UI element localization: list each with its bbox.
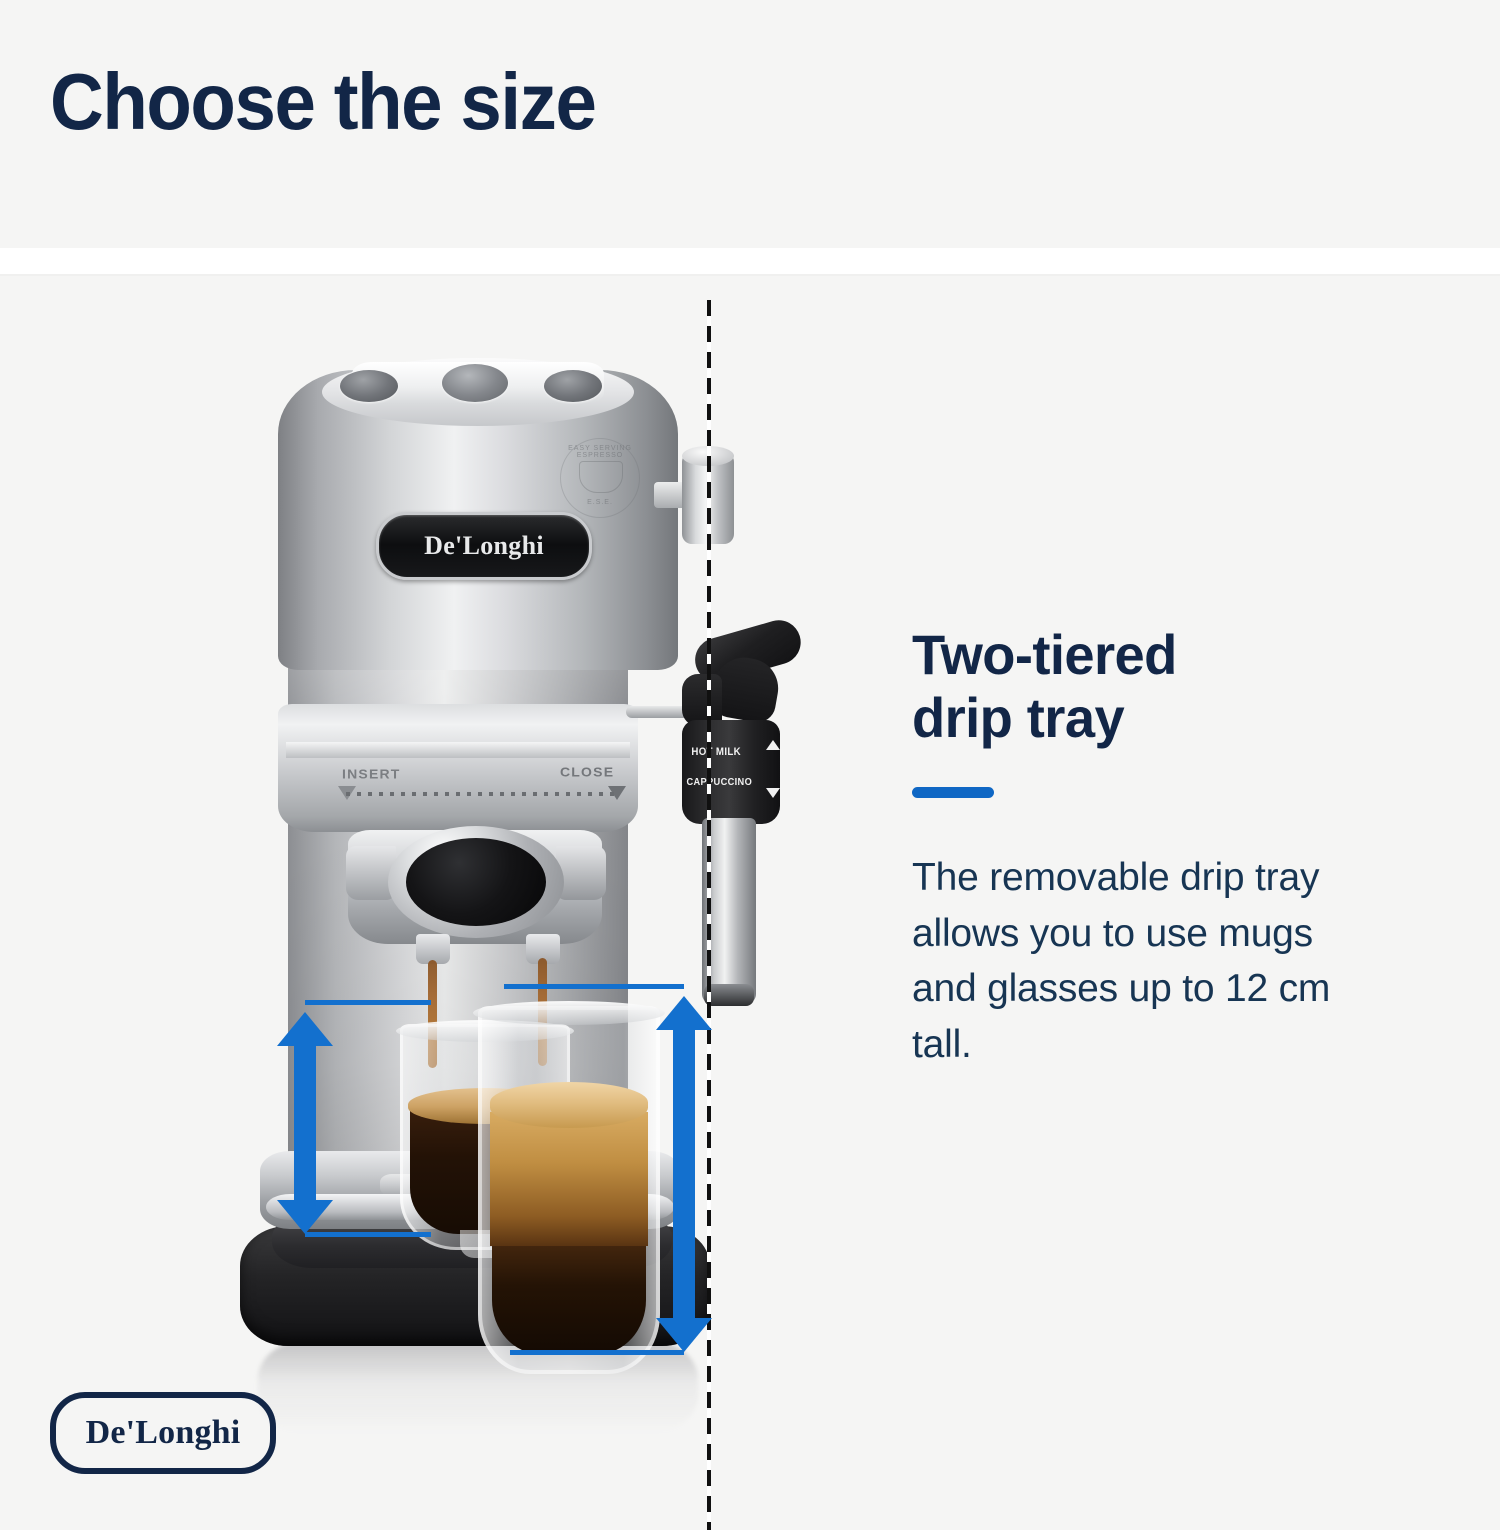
power-button[interactable] xyxy=(340,370,398,402)
short-arrow-shaft xyxy=(294,1046,316,1200)
tall-extension-line-bottom xyxy=(510,1350,684,1355)
feature-heading-line-1: Two-tiered xyxy=(912,624,1407,687)
delonghi-logo-text: De'Longhi xyxy=(86,1414,241,1452)
steam-button[interactable] xyxy=(544,370,602,402)
group-head-band xyxy=(286,742,630,758)
product-stage: De'Longhi EASY SERVING ESPRESSO E.S.E. I… xyxy=(0,276,1500,1500)
marking-close: CLOSE xyxy=(560,765,614,779)
tall-extension-line-top xyxy=(504,984,684,989)
feature-heading: Two-tiered drip tray xyxy=(912,624,1407,749)
short-arrow-head-down xyxy=(277,1200,333,1234)
wand-label-cappuccino: CAPPUCCINO xyxy=(686,776,752,788)
ese-logo-top-text: EASY SERVING ESPRESSO xyxy=(561,445,639,459)
tall-arrow-head-up xyxy=(656,996,712,1030)
feature-accent-rule xyxy=(912,787,994,798)
feature-description: The removable drip tray allows you to us… xyxy=(912,850,1382,1072)
marking-insert: INSERT xyxy=(342,767,401,781)
tall-glass-coffee xyxy=(492,1236,646,1354)
steam-wand-selector[interactable] xyxy=(682,720,780,824)
short-extension-line-bottom xyxy=(305,1232,431,1237)
espresso-glass-tall xyxy=(478,1006,660,1374)
ese-logo-icon: EASY SERVING ESPRESSO E.S.E. xyxy=(560,438,640,518)
feature-text-column: Two-tiered drip tray The removable drip … xyxy=(912,624,1422,1072)
espresso-machine-image: De'Longhi EASY SERVING ESPRESSO E.S.E. I… xyxy=(230,306,750,1406)
portafilter-basket xyxy=(406,838,546,926)
ese-logo-glyph xyxy=(579,461,623,493)
wand-down-arrow-icon xyxy=(766,788,780,798)
tall-arrow-head-down xyxy=(656,1318,712,1352)
portafilter-ear-right xyxy=(556,846,606,900)
brew-button[interactable] xyxy=(442,364,508,402)
brand-nameplate: De'Longhi xyxy=(376,512,592,580)
ese-logo-bottom-text: E.S.E. xyxy=(561,499,639,506)
page-title: Choose the size xyxy=(50,62,595,142)
short-extension-line-top xyxy=(305,1000,431,1005)
short-arrow-head-up xyxy=(277,1012,333,1046)
tall-glass-body xyxy=(490,1112,648,1246)
tall-glass-crema xyxy=(490,1082,648,1128)
page-root: Choose the size De'Longhi xyxy=(0,0,1500,1500)
steam-wand-elbow xyxy=(682,674,722,726)
insert-close-dotted-track xyxy=(346,792,616,796)
wand-label-hot-milk: HOT MILK xyxy=(691,746,741,758)
page-header: Choose the size xyxy=(0,0,1500,248)
wand-up-arrow-icon xyxy=(766,740,780,750)
brand-nameplate-text: De'Longhi xyxy=(424,531,544,561)
feature-heading-line-2: drip tray xyxy=(912,687,1407,750)
delonghi-logo: De'Longhi xyxy=(50,1392,276,1474)
tall-arrow-shaft xyxy=(673,1030,695,1318)
tall-glass-rim xyxy=(473,1001,665,1025)
header-divider xyxy=(0,248,1500,274)
